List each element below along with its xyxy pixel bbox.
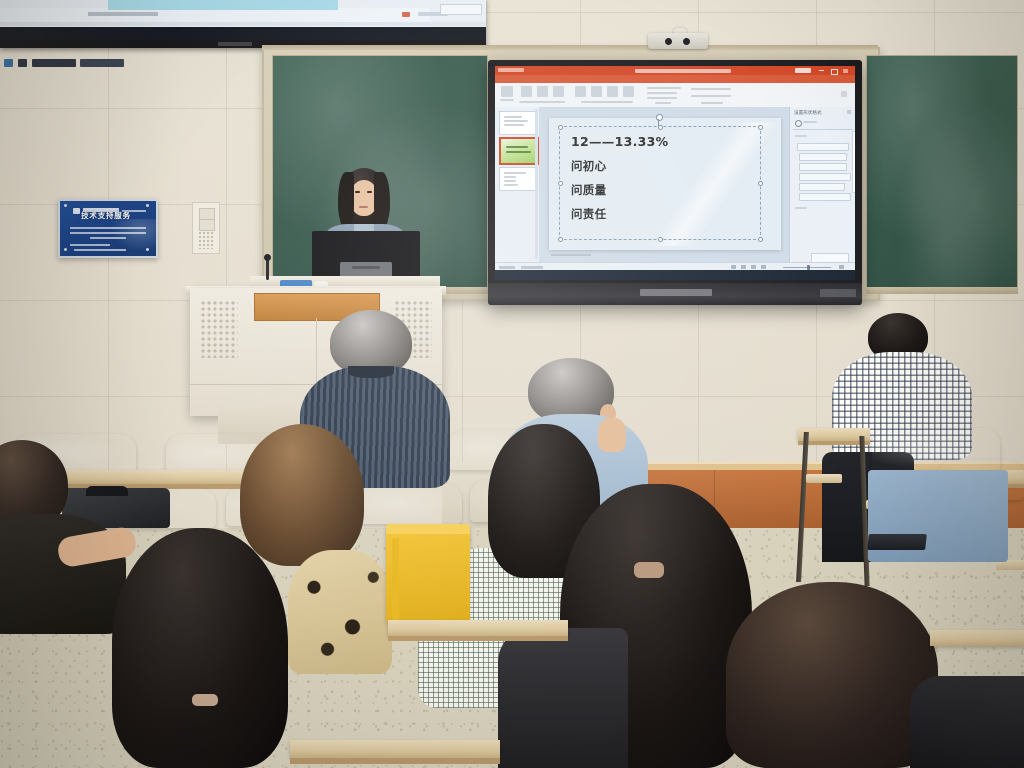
- photo-vignette: [0, 0, 1024, 768]
- lecture-hall-photo: 12——13.33% 问初心 问质量 问责任 设置形状格式: [0, 0, 1024, 768]
